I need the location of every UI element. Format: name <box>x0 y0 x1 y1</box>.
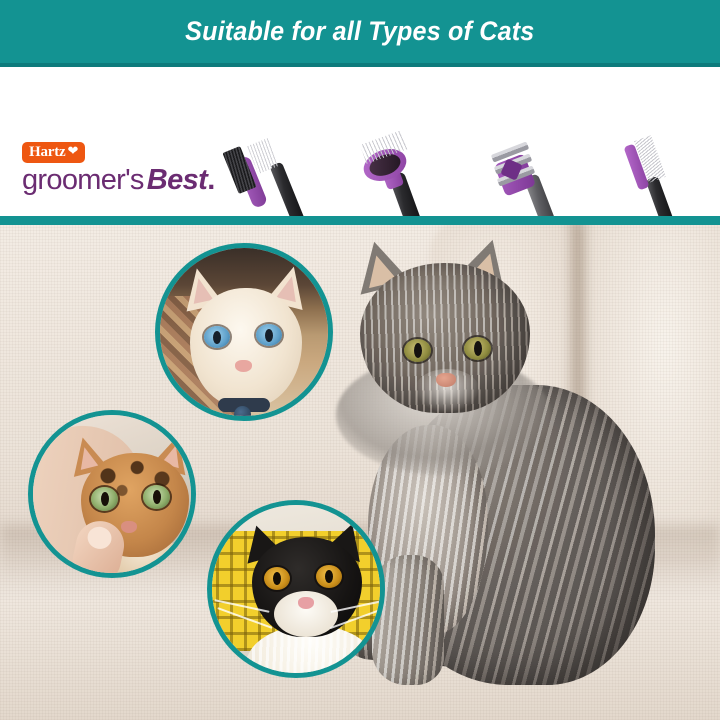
brand-logo: Hartz❤ groomer'sBest. <box>22 142 202 195</box>
hartz-badge: Hartz❤ <box>22 142 85 163</box>
heart-icon: ❤ <box>67 143 78 158</box>
groomers-text: groomer's <box>22 164 144 196</box>
main-cat-photo-subject <box>330 235 700 715</box>
page-title: Suitable for all Types of Cats <box>185 16 534 47</box>
hero-photo <box>0 225 720 720</box>
product-banner: Suitable for all Types of Cats Hartz❤ gr… <box>0 0 720 720</box>
header-banner: Suitable for all Types of Cats <box>0 0 720 63</box>
hartz-wordmark: Hartz <box>29 144 65 160</box>
section-divider <box>0 216 720 225</box>
product-strip: Hartz❤ groomer'sBest. Small Combo Brush <box>0 67 720 216</box>
inset-tuxedo-cat <box>207 500 385 678</box>
inset-cream-cat <box>155 243 333 421</box>
inset-bengal-kitten <box>28 410 196 578</box>
groomers-best-wordmark: groomer'sBest. <box>22 166 202 195</box>
best-text: Best <box>147 164 207 196</box>
